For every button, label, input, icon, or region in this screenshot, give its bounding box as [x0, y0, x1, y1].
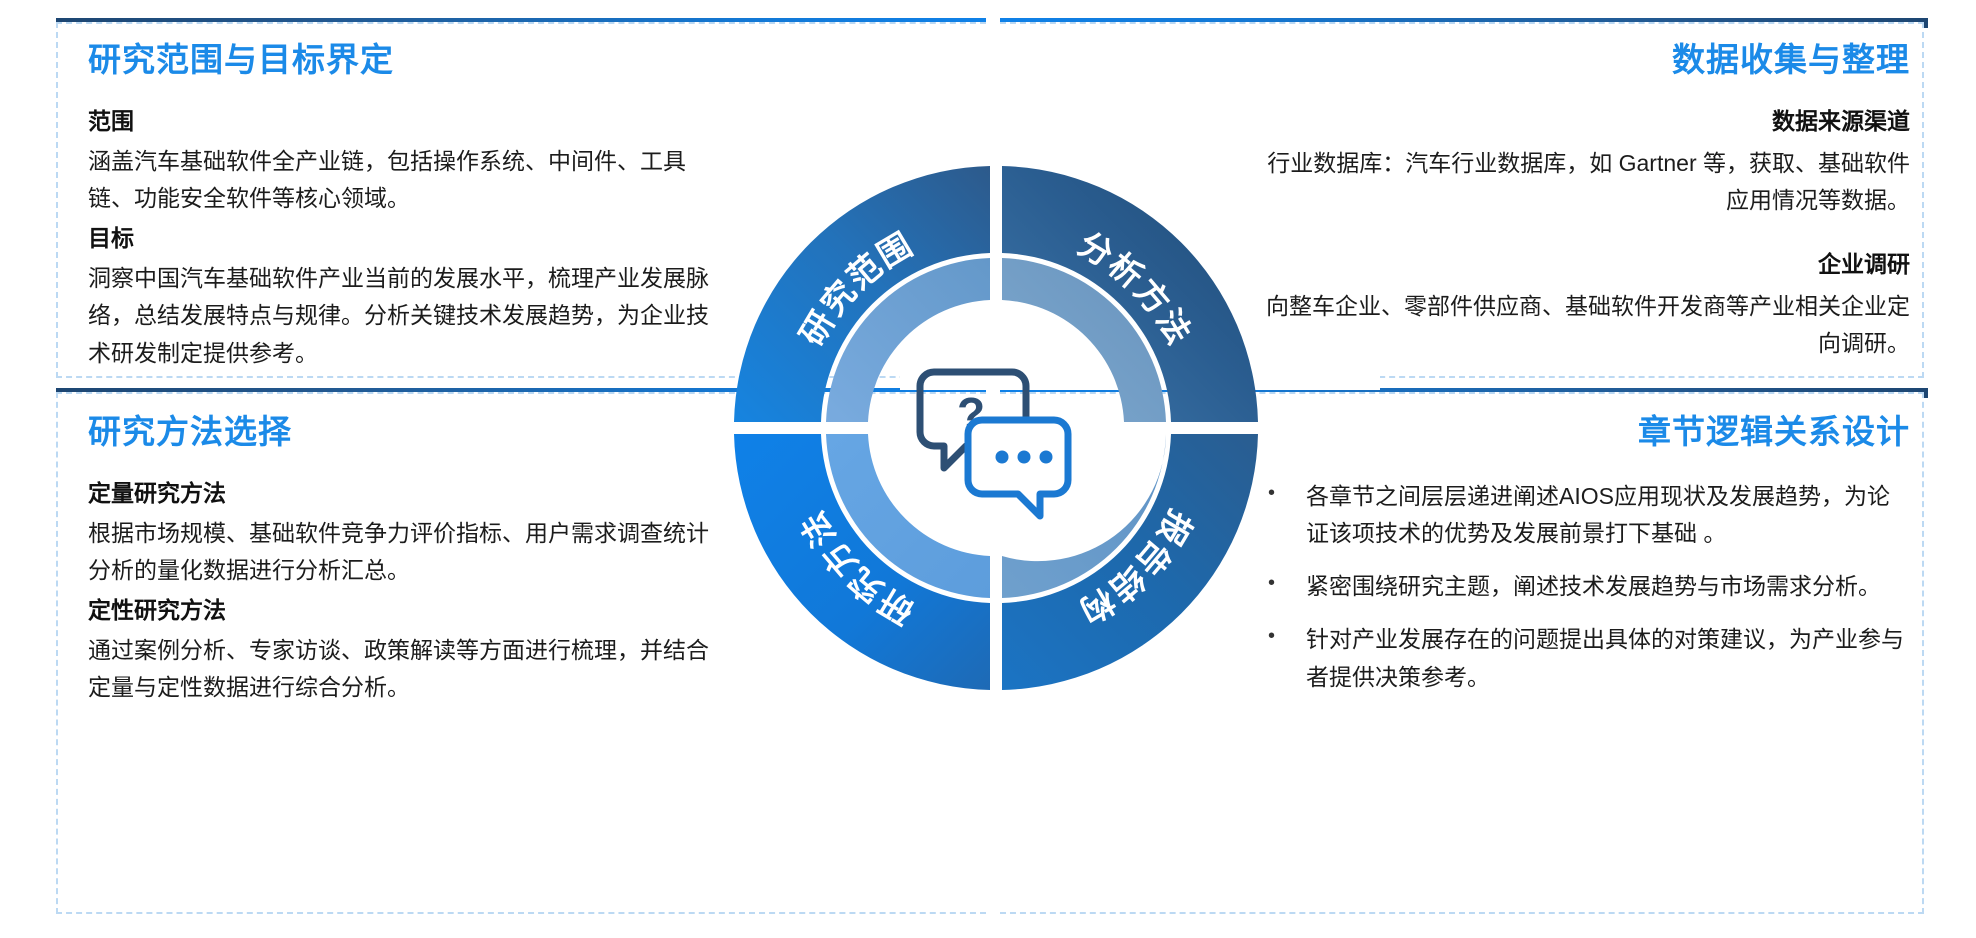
subtext-quantitative: 根据市场规模、基础软件竞争力评价指标、用户需求调查统计分析的量化数据进行分析汇总… [88, 515, 728, 590]
subheading-enterprise-research: 企业调研 [1250, 249, 1910, 280]
subtext-data-sources: 行业数据库：汽车行业数据库，如 Gartner 等，获取、基础软件应用情况等数据… [1250, 145, 1910, 220]
block-data-sources: 数据来源渠道 行业数据库：汽车行业数据库，如 Gartner 等，获取、基础软件… [1250, 106, 1910, 220]
subtext-enterprise-research: 向整车企业、零部件供应商、基础软件开发商等产业相关企业定向调研。 [1250, 288, 1910, 363]
panel-title-data-collection: 数据收集与整理 [1250, 40, 1910, 80]
subheading-scope: 范围 [88, 106, 728, 137]
subheading-quantitative: 定量研究方法 [88, 478, 728, 509]
subheading-data-sources: 数据来源渠道 [1250, 106, 1910, 137]
subtext-qualitative: 通过案例分析、专家访谈、政策解读等方面进行梳理，并结合定量与定性数据进行综合分析… [88, 632, 728, 707]
block-objective: 目标 洞察中国汽车基础软件产业当前的发展水平，梳理产业发展脉络，总结发展特点与规… [88, 223, 728, 372]
subtext-scope: 涵盖汽车基础软件全产业链，包括操作系统、中间件、工具链、功能安全软件等核心领域。 [88, 143, 728, 218]
panel-title-research-scope: 研究范围与目标界定 [88, 40, 728, 80]
chapter-logic-bullet-list: 各章节之间层层递进阐述AIOS应用现状及发展趋势，为论证该项技术的优势及发展前景… [1250, 478, 1910, 696]
block-enterprise-research: 企业调研 向整车企业、零部件供应商、基础软件开发商等产业相关企业定向调研。 [1250, 249, 1910, 363]
panel-bottom-left-content: 研究方法选择 定量研究方法 根据市场规模、基础软件竞争力评价指标、用户需求调查统… [88, 412, 728, 713]
panel-top-left-content: 研究范围与目标界定 范围 涵盖汽车基础软件全产业链，包括操作系统、中间件、工具链… [88, 40, 728, 378]
block-scope: 范围 涵盖汽车基础软件全产业链，包括操作系统、中间件、工具链、功能安全软件等核心… [88, 106, 728, 218]
subheading-objective: 目标 [88, 223, 728, 254]
chat-question-icon: ? [920, 372, 1068, 516]
block-qualitative: 定性研究方法 通过案例分析、专家访谈、政策解读等方面进行梳理，并结合定量与定性数… [88, 595, 728, 707]
panel-title-chapter-logic: 章节逻辑关系设计 [1250, 412, 1910, 452]
panel-title-research-methods: 研究方法选择 [88, 412, 728, 452]
list-item: 针对产业发展存在的问题提出具体的对策建议，为产业参与者提供决策参考。 [1250, 621, 1910, 696]
block-quantitative: 定量研究方法 根据市场规模、基础软件竞争力评价指标、用户需求调查统计分析的量化数… [88, 478, 728, 590]
panel-top-right-content: 数据收集与整理 数据来源渠道 行业数据库：汽车行业数据库，如 Gartner 等… [1250, 40, 1910, 393]
panel-bottom-right-content: 章节逻辑关系设计 各章节之间层层递进阐述AIOS应用现状及发展趋势，为论证该项技… [1250, 412, 1910, 712]
subheading-qualitative: 定性研究方法 [88, 595, 728, 626]
diagram-canvas: 研究范围与目标界定 范围 涵盖汽车基础软件全产业链，包括操作系统、中间件、工具链… [0, 0, 1976, 938]
list-item: 紧密围绕研究主题，阐述技术发展趋势与市场需求分析。 [1250, 568, 1910, 605]
center-donut-diagram: 研究范围 分析方法 研究方法 报告结构 ? [716, 148, 1276, 708]
subtext-objective: 洞察中国汽车基础软件产业当前的发展水平，梳理产业发展脉络，总结发展特点与规律。分… [88, 260, 728, 372]
list-item: 各章节之间层层递进阐述AIOS应用现状及发展趋势，为论证该项技术的优势及发展前景… [1250, 478, 1910, 553]
